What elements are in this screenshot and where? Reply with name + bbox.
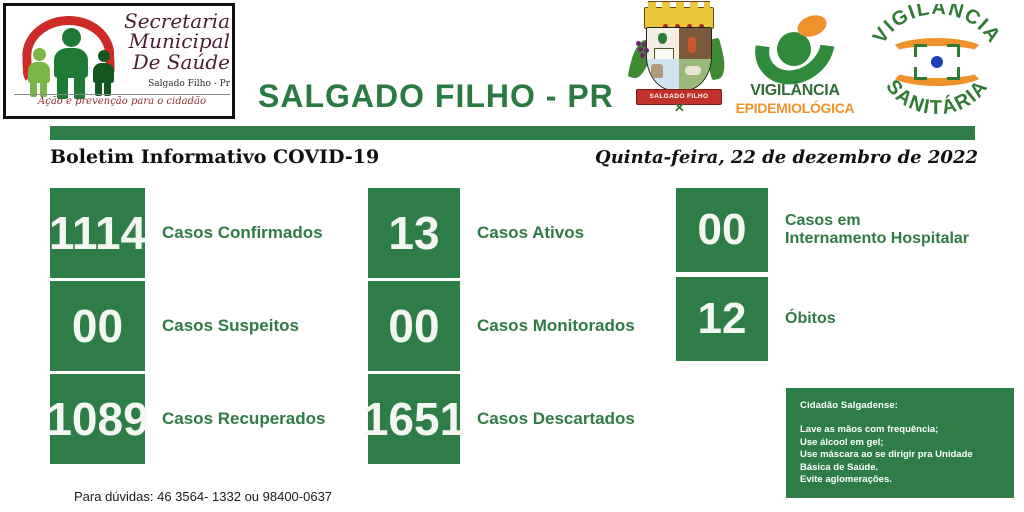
stat-label: Óbitos [768,310,836,328]
secretaria-municipal-saude-logo: Secretaria Municipal De Saúde Salgado Fi… [3,3,235,119]
stat-label: Casos Ativos [460,223,584,242]
shield-icon [646,27,712,91]
stat-deaths: 12 Óbitos [676,277,969,361]
stat-value: 1114 [50,188,145,278]
salgado-filho-coat-of-arms-icon: SALGADO FILHO ✕ [630,5,726,117]
logo-slogan: Ação e prevenção para o cidadão [14,96,230,107]
child-figure-icon [28,48,50,83]
stat-label: Casos Confirmados [145,223,323,242]
stat-label: Casos Suspeitos [145,316,299,335]
stat-recovered: 1089 Casos Recuperados [50,374,325,464]
advisory-title: Cidadão Salgadense: [800,400,1002,411]
vigilancia-epidemiologica-logo: VIGILÂNCIA EPIDEMIOLÓGICA [735,8,855,118]
stat-value: 13 [368,188,460,278]
epidemiologica-line-2: EPIDEMIOLÓGICA [735,100,855,116]
epidemiologica-line-1: VIGILÂNCIA [735,82,855,100]
contact-footer: Para dúvidas: 46 3564- 1332 ou 98400-063… [74,489,332,504]
crown-icon [644,7,714,29]
stat-label: Casos Descartados [460,409,635,428]
stats-column-3: 00 Casos em Internamento Hospitalar 12 Ó… [676,188,969,361]
stat-active: 13 Casos Ativos [368,188,635,278]
stat-value: 00 [368,281,460,371]
secretaria-logo-wordmark: Secretaria Municipal De Saúde [118,11,230,72]
stat-discarded: 1651 Casos Descartados [368,374,635,464]
header-green-divider [50,126,975,140]
bulletin-page: Secretaria Municipal De Saúde Salgado Fi… [0,0,1024,512]
bulletin-date: Quinta-feira, 22 de dezembro de 2022 [595,147,978,168]
stat-value: 00 [50,281,145,371]
grapes-icon [636,41,650,57]
stat-value: 12 [676,277,768,361]
stat-label: Casos Recuperados [145,409,325,428]
family-heart-icon [12,10,132,98]
header: Secretaria Municipal De Saúde Salgado Fi… [0,0,1024,122]
banner-cross-icon: ✕ [674,102,684,114]
advisory-body: Lave as mãos com frequência; Use álcool … [800,424,1002,487]
stat-suspected: 00 Casos Suspeitos [50,281,325,371]
bulletin-title: Boletim Informativo COVID-19 [50,146,379,168]
logo-divider [14,94,230,95]
adult-figure-icon [54,28,88,78]
stat-value: 1089 [50,374,145,464]
logo-line-3: De Saúde [118,52,230,72]
stats-column-2: 13 Casos Ativos 00 Casos Monitorados 165… [368,188,635,464]
page-title: SALGADO FILHO - PR [258,78,618,115]
stat-label: Casos Monitorados [460,316,635,335]
stat-hospitalized: 00 Casos em Internamento Hospitalar [676,188,969,272]
logo-city-label: Salgado Filho - Pr [118,79,230,89]
advisory-panel: Cidadão Salgadense: Lave as mãos com fre… [786,388,1014,498]
logo-line-1: Secretaria [118,11,230,31]
stat-monitored: 00 Casos Monitorados [368,281,635,371]
vigilancia-sanitaria-logo: VIGILÂNCIA SANITÁRIA [862,4,1012,118]
stat-label: Casos em Internamento Hospitalar [768,212,969,248]
pupil-icon [931,56,943,68]
stat-value: 00 [676,188,768,272]
stat-confirmed: 1114 Casos Confirmados [50,188,325,278]
second-child-figure-icon [93,50,114,83]
logo-line-2: Municipal [118,31,230,51]
stat-value: 1651 [368,374,460,464]
stats-column-1: 1114 Casos Confirmados 00 Casos Suspeito… [50,188,325,464]
green-circle-icon [777,32,811,66]
